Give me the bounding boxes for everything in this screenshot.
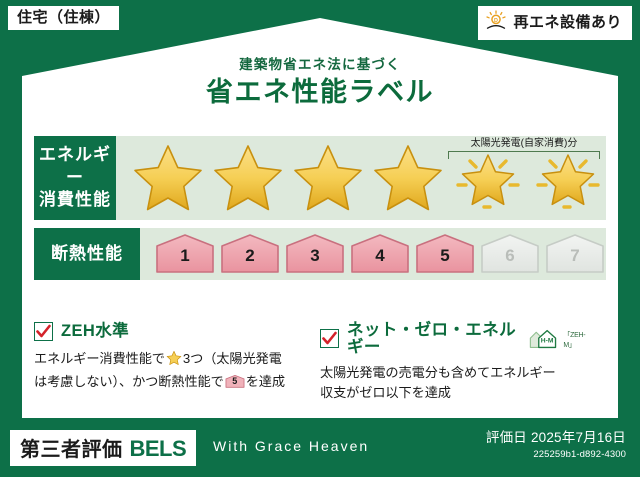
insulation-level-number: 5 <box>414 247 476 264</box>
solar-star-icon <box>450 141 526 215</box>
insulation-level-scale: 1 2 3 4 5 <box>154 233 606 275</box>
title-block: 建築物省エネ法に基づく 省エネ性能ラベル <box>0 58 640 108</box>
zeh-m-logo: H-M 「ZEH-M」 <box>527 326 592 352</box>
evaluation-info: 評価日 2025年7月16日 225259b1-d892-4300 <box>486 430 626 460</box>
insulation-performance-row: 断熱性能 1 2 3 <box>34 228 606 280</box>
insulation-level-badge: 6 <box>479 233 541 275</box>
bels-label-jp: 第三者評価 <box>20 433 123 462</box>
evaluation-date-value: 2025年7月16日 <box>531 430 626 445</box>
insulation-level-number: 4 <box>349 247 411 264</box>
energy-label-line2: 消費性能 <box>39 189 111 211</box>
evaluation-date: 評価日 2025年7月16日 <box>486 430 626 447</box>
renewable-badge-label: 再エネ設備あり <box>513 15 622 30</box>
star-icon <box>166 354 182 369</box>
criterion-net-zero-line2: 収支がゼロ以下を達成 <box>320 385 451 400</box>
sun-icon: D <box>485 10 507 35</box>
criterion-zeh-body: エネルギー消費性能で3つ（太陽光発電 は考慮しない）、かつ断熱性能で5を達成 <box>34 349 306 392</box>
dwelling-type-tag: 住宅（住棟） <box>8 6 119 30</box>
bels-label-en: BELS <box>130 436 187 462</box>
criterion-zeh-text-c: は考慮しない）、かつ断熱性能で <box>34 374 224 389</box>
certificate-id: 225259b1-d892-4300 <box>486 449 626 460</box>
red-check-icon <box>34 322 53 341</box>
insulation-level-badge: 5 <box>414 233 476 275</box>
criterion-net-zero-header: ネット・ゼロ・エネルギー H-M 「ZEH-M」 <box>320 322 592 355</box>
insulation-level-number: 2 <box>219 247 281 264</box>
criterion-net-zero-body: 太陽光発電の売電分も含めてエネルギー 収支がゼロ以下を達成 <box>320 363 592 403</box>
star-icon <box>210 141 286 215</box>
bels-certification-box: 第三者評価 BELS <box>10 430 196 466</box>
criterion-net-zero-line1: 太陽光発電の売電分も含めてエネルギー <box>320 365 556 380</box>
footer: 第三者評価 BELS With Grace Heaven 評価日 2025年7月… <box>0 418 640 477</box>
criterion-zeh-text-a: エネルギー消費性能で <box>34 351 165 366</box>
insulation-badge-inline-icon: 5 <box>225 374 245 389</box>
criterion-zeh: ZEH水準 エネルギー消費性能で3つ（太陽光発電 は考慮しない）、かつ断熱性能で… <box>34 322 320 403</box>
insulation-badge-panel: 1 2 3 4 5 <box>140 228 606 280</box>
energy-star-panel: 太陽光発電(自家消費)分 <box>116 136 606 220</box>
metrics-section: エネルギー 消費性能 太陽光発電(自家消費)分 <box>34 136 606 288</box>
svg-text:H-M: H-M <box>541 337 554 344</box>
criterion-zeh-text-d: を達成 <box>246 374 285 389</box>
renewable-equipment-badge: D 再エネ設備あり <box>478 6 632 40</box>
criterion-zeh-text-b: 3つ（太陽光発電 <box>183 351 282 366</box>
insulation-level-number: 6 <box>479 247 541 264</box>
insulation-level-badge: 3 <box>284 233 346 275</box>
star-icon <box>370 141 446 215</box>
insulation-level-badge: 2 <box>219 233 281 275</box>
red-check-icon <box>320 329 339 348</box>
star-rating <box>130 141 606 215</box>
page-title: 省エネ性能ラベル <box>0 77 640 108</box>
energy-performance-label-box: エネルギー 消費性能 <box>34 136 116 220</box>
insulation-level-badge: 4 <box>349 233 411 275</box>
energy-label-line1: エネルギー <box>34 144 116 189</box>
insulation-level-badge: 1 <box>154 233 216 275</box>
insulation-badge-inline-number: 5 <box>225 377 245 386</box>
star-icon <box>290 141 366 215</box>
insulation-level-badge: 7 <box>544 233 606 275</box>
criteria-section: ZEH水準 エネルギー消費性能で3つ（太陽光発電 は考慮しない）、かつ断熱性能で… <box>34 322 606 403</box>
criterion-net-zero: ネット・ゼロ・エネルギー H-M 「ZEH-M」 太陽光発電の売電分も含めてエネ… <box>320 322 606 403</box>
energy-performance-label: 住宅（住棟） D 再エネ設備あり 建築物省エネ法に基づく 省エネ性能ラベル <box>0 0 640 477</box>
evaluation-date-label: 評価日 <box>486 430 527 445</box>
solar-star-icon <box>530 141 606 215</box>
insulation-level-number: 1 <box>154 247 216 264</box>
insulation-level-number: 3 <box>284 247 346 264</box>
star-icon <box>130 141 206 215</box>
building-name: With Grace Heaven <box>213 438 369 454</box>
criterion-zeh-title: ZEH水準 <box>61 323 129 340</box>
svg-text:D: D <box>495 18 499 24</box>
criterion-zeh-header: ZEH水準 <box>34 322 306 341</box>
criterion-net-zero-title: ネット・ゼロ・エネルギー <box>347 322 517 355</box>
zeh-m-logo-caption: 「ZEH-M」 <box>563 330 592 352</box>
insulation-label-box: 断熱性能 <box>34 228 140 280</box>
insulation-level-number: 7 <box>544 247 606 264</box>
title-subtitle: 建築物省エネ法に基づく <box>0 58 640 73</box>
energy-performance-row: エネルギー 消費性能 太陽光発電(自家消費)分 <box>34 136 606 220</box>
